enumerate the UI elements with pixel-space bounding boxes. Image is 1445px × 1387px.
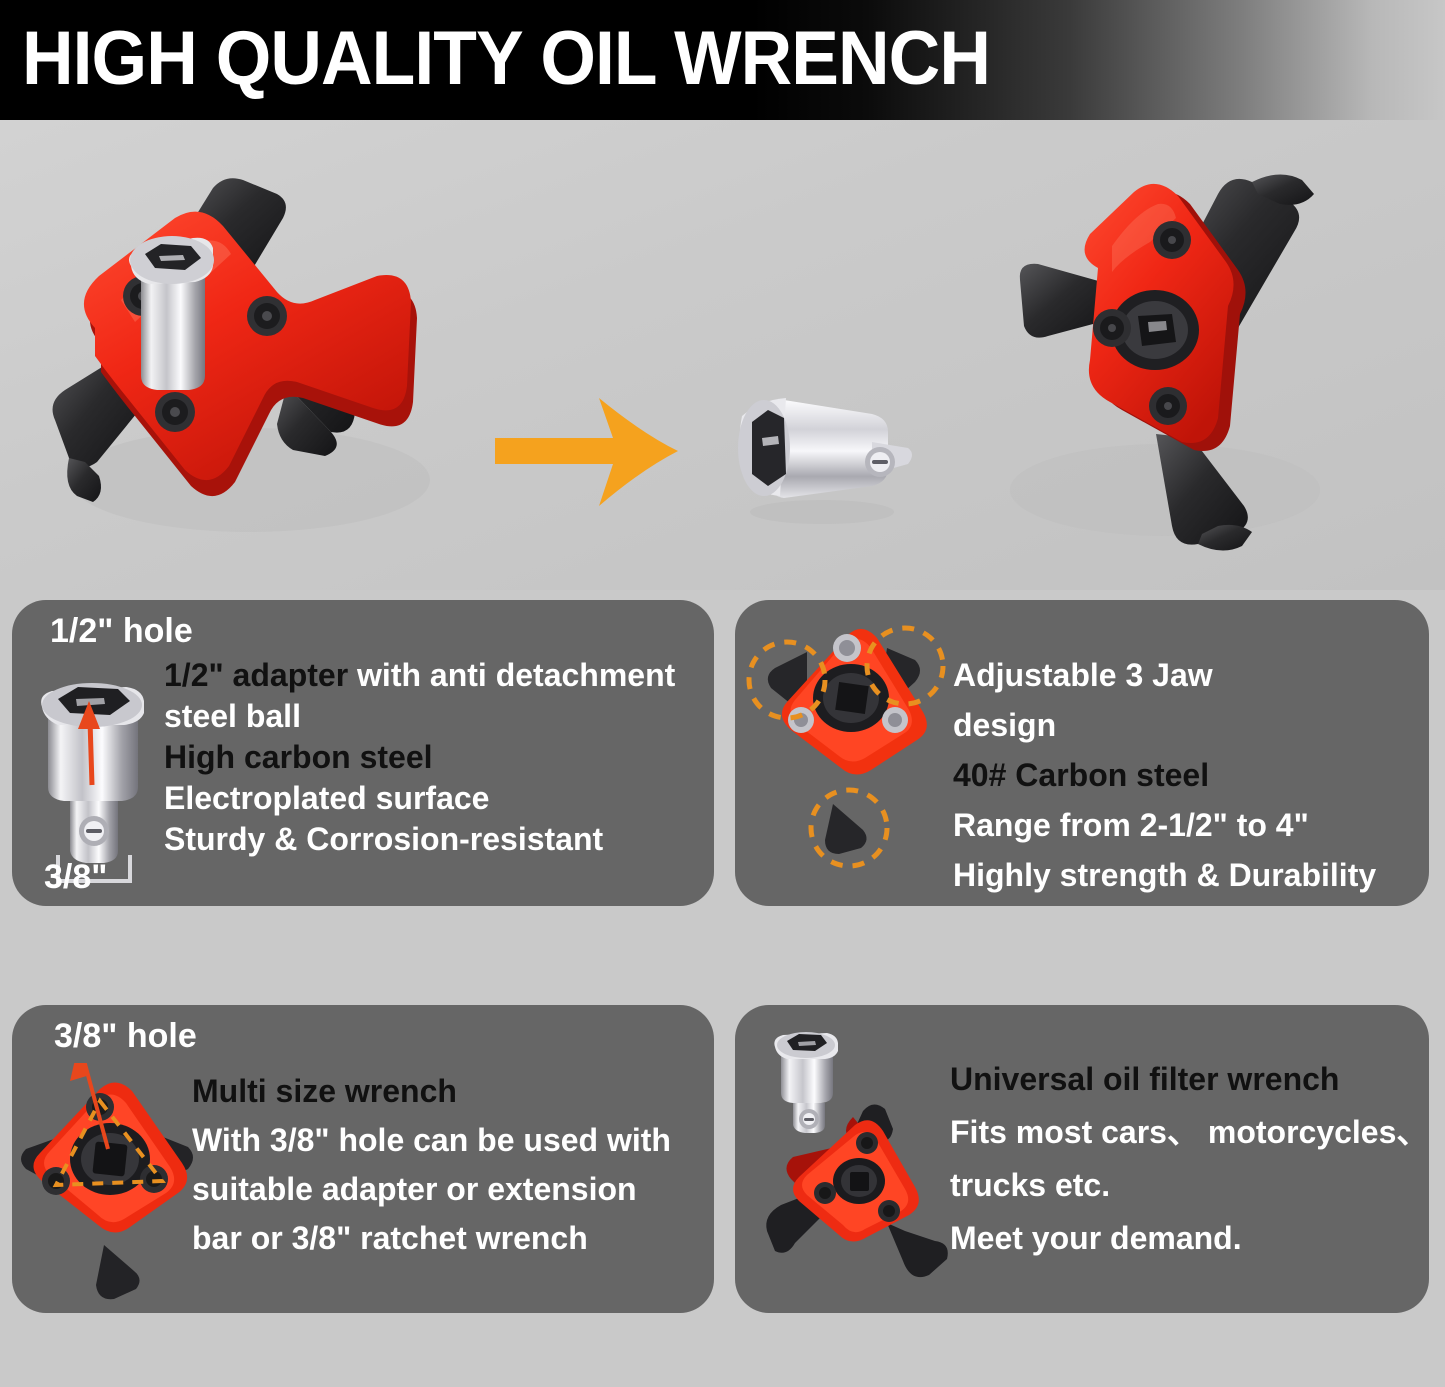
feature-line: suitable adapter or extension <box>192 1165 671 1214</box>
adapter-feature-text: 1/2" adapter with anti detachment steel … <box>164 655 675 860</box>
hero-product-area <box>0 120 1445 590</box>
feature-line: Adjustable 3 Jaw <box>953 650 1376 700</box>
feature-line: Multi size wrench <box>192 1067 671 1116</box>
feature-line: Universal oil filter wrench <box>950 1053 1428 1106</box>
feature-panel-adapter: 1/2" hole <box>12 600 714 906</box>
feature-line: High carbon steel <box>164 737 675 778</box>
right-arrow-icon <box>495 396 680 508</box>
three-jaw-top-view-diagram <box>745 608 965 898</box>
feature-line: Highly strength & Durability <box>953 850 1376 900</box>
callout-three-eighths-hole: 3/8" hole <box>54 1017 197 1056</box>
feature-line: trucks etc. <box>950 1159 1428 1212</box>
multi-size-feature-text: Multi size wrench With 3/8" hole can be … <box>192 1067 671 1263</box>
feature-panel-jaw-structure: Adjustable 3 Jaw design 40# Carbon steel… <box>735 600 1429 906</box>
feature-line: 40# Carbon steel <box>953 750 1376 800</box>
feature-line: Range from 2-1/2" to 4" <box>953 800 1376 850</box>
header-banner: HIGH QUALITY OIL WRENCH <box>0 0 1445 120</box>
hero-center-adapter-image <box>722 370 912 530</box>
feature-line: With 3/8" hole can be used with <box>192 1116 671 1165</box>
feature-line: steel ball <box>164 696 675 737</box>
feature-line: Electroplated surface <box>164 778 675 819</box>
universal-fit-feature-text: Universal oil filter wrench Fits most ca… <box>950 1053 1428 1265</box>
feature-line: 1/2" adapter with anti detachment <box>164 655 675 696</box>
callout-three-eighths: 3/8" <box>44 858 107 897</box>
feature-line: Fits most cars、 motorcycles、 <box>950 1106 1428 1159</box>
feature-line: Meet your demand. <box>950 1212 1428 1265</box>
feature-panel-universal-fit: Universal oil filter wrench Fits most ca… <box>735 1005 1429 1313</box>
jaw-structure-feature-text: Adjustable 3 Jaw design 40# Carbon steel… <box>953 650 1376 900</box>
feature-line: Sturdy & Corrosion-resistant <box>164 819 675 860</box>
feature-line: bar or 3/8" ratchet wrench <box>192 1214 671 1263</box>
feature-panel-multi-size: 3/8" hole Multi size wrench Wit <box>12 1005 714 1313</box>
infographic-page: HIGH QUALITY OIL WRENCH <box>0 0 1445 1387</box>
hero-right-product-image <box>950 150 1370 570</box>
page-title: HIGH QUALITY OIL WRENCH <box>22 16 990 102</box>
callout-half-inch-hole: 1/2" hole <box>50 612 193 651</box>
hero-left-product-image <box>25 150 495 570</box>
feature-line: design <box>953 700 1376 750</box>
